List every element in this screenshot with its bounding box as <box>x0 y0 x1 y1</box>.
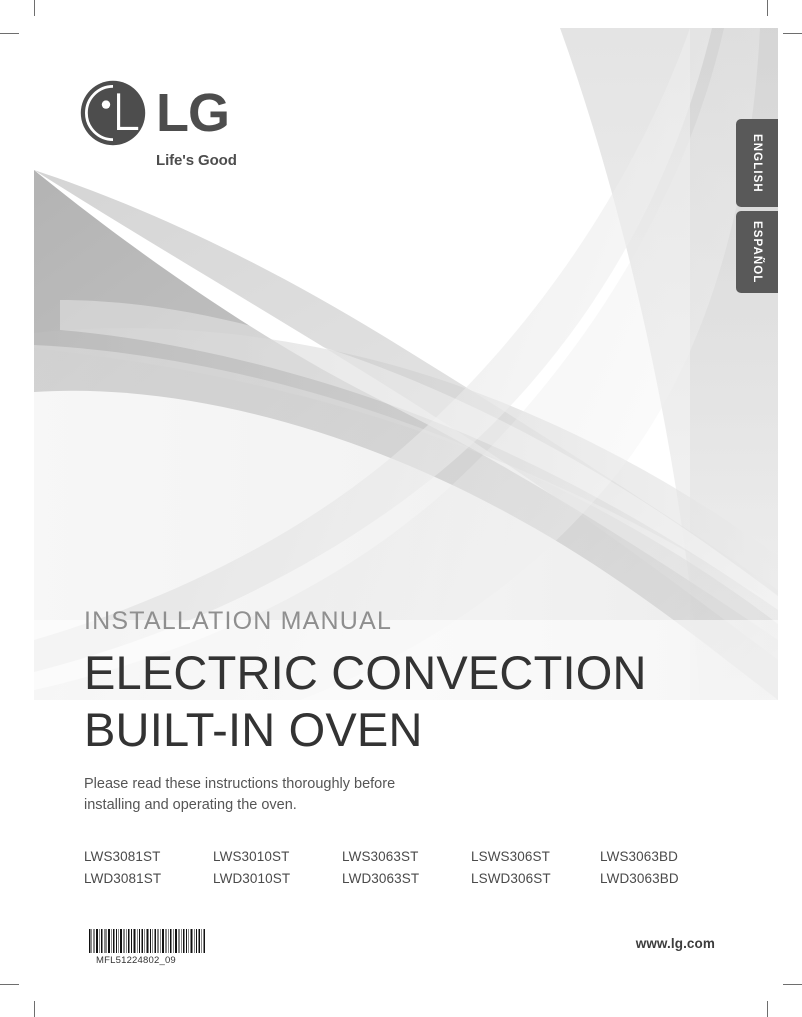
crop-mark-bottom-right-horizontal <box>783 984 802 985</box>
crop-mark-top-left-vertical <box>34 0 35 16</box>
barcode-block: MFL51224802_09 <box>88 929 206 966</box>
barcode-icon <box>88 929 206 953</box>
model-number: LSWS306ST <box>471 846 600 868</box>
model-number: LWD3063ST <box>342 868 471 890</box>
barcode-label: MFL51224802_09 <box>88 955 206 966</box>
crop-mark-top-right-vertical <box>767 0 768 16</box>
model-number: LWD3081ST <box>84 868 213 890</box>
lg-logo: LG Life's Good <box>78 78 238 164</box>
document-type-kicker: INSTALLATION MANUAL <box>84 608 724 636</box>
model-number: LWD3063BD <box>600 868 729 890</box>
lg-circle-face-icon <box>78 78 148 148</box>
model-number-grid: LWS3081ST LWS3010ST LWS3063ST LSWS306ST … <box>84 846 724 890</box>
language-tab-espanol[interactable]: ESPAÑOL <box>736 211 778 293</box>
language-tab-english[interactable]: ENGLISH <box>736 119 778 207</box>
lg-logo-row: LG <box>78 78 238 148</box>
model-number: LWS3010ST <box>213 846 342 868</box>
cover-lead-text: Please read these instructions thoroughl… <box>84 774 724 816</box>
crop-mark-bottom-left-vertical <box>34 1001 35 1017</box>
crop-mark-bottom-right-vertical <box>767 1001 768 1017</box>
model-number: LWS3081ST <box>84 846 213 868</box>
model-number: LWS3063ST <box>342 846 471 868</box>
language-tab-espanol-label: ESPAÑOL <box>751 221 763 283</box>
cover-title-block: INSTALLATION MANUAL ELECTRIC CONVECTION … <box>84 608 724 816</box>
model-number: LWD3010ST <box>213 868 342 890</box>
language-tab-english-label: ENGLISH <box>751 134 763 193</box>
model-number: LWS3063BD <box>600 846 729 868</box>
product-title: ELECTRIC CONVECTION BUILT-IN OVEN <box>84 644 724 759</box>
crop-mark-top-left-horizontal <box>0 33 19 34</box>
manual-cover-page: LG Life's Good ENGLISH ESPAÑOL INSTALLAT… <box>0 0 802 1017</box>
website-url[interactable]: www.lg.com <box>560 936 715 951</box>
model-number: LSWD306ST <box>471 868 600 890</box>
lg-wordmark: LG <box>156 86 229 140</box>
crop-mark-top-right-horizontal <box>783 33 802 34</box>
crop-mark-bottom-left-horizontal <box>0 984 19 985</box>
lg-tagline: Life's Good <box>156 152 238 169</box>
